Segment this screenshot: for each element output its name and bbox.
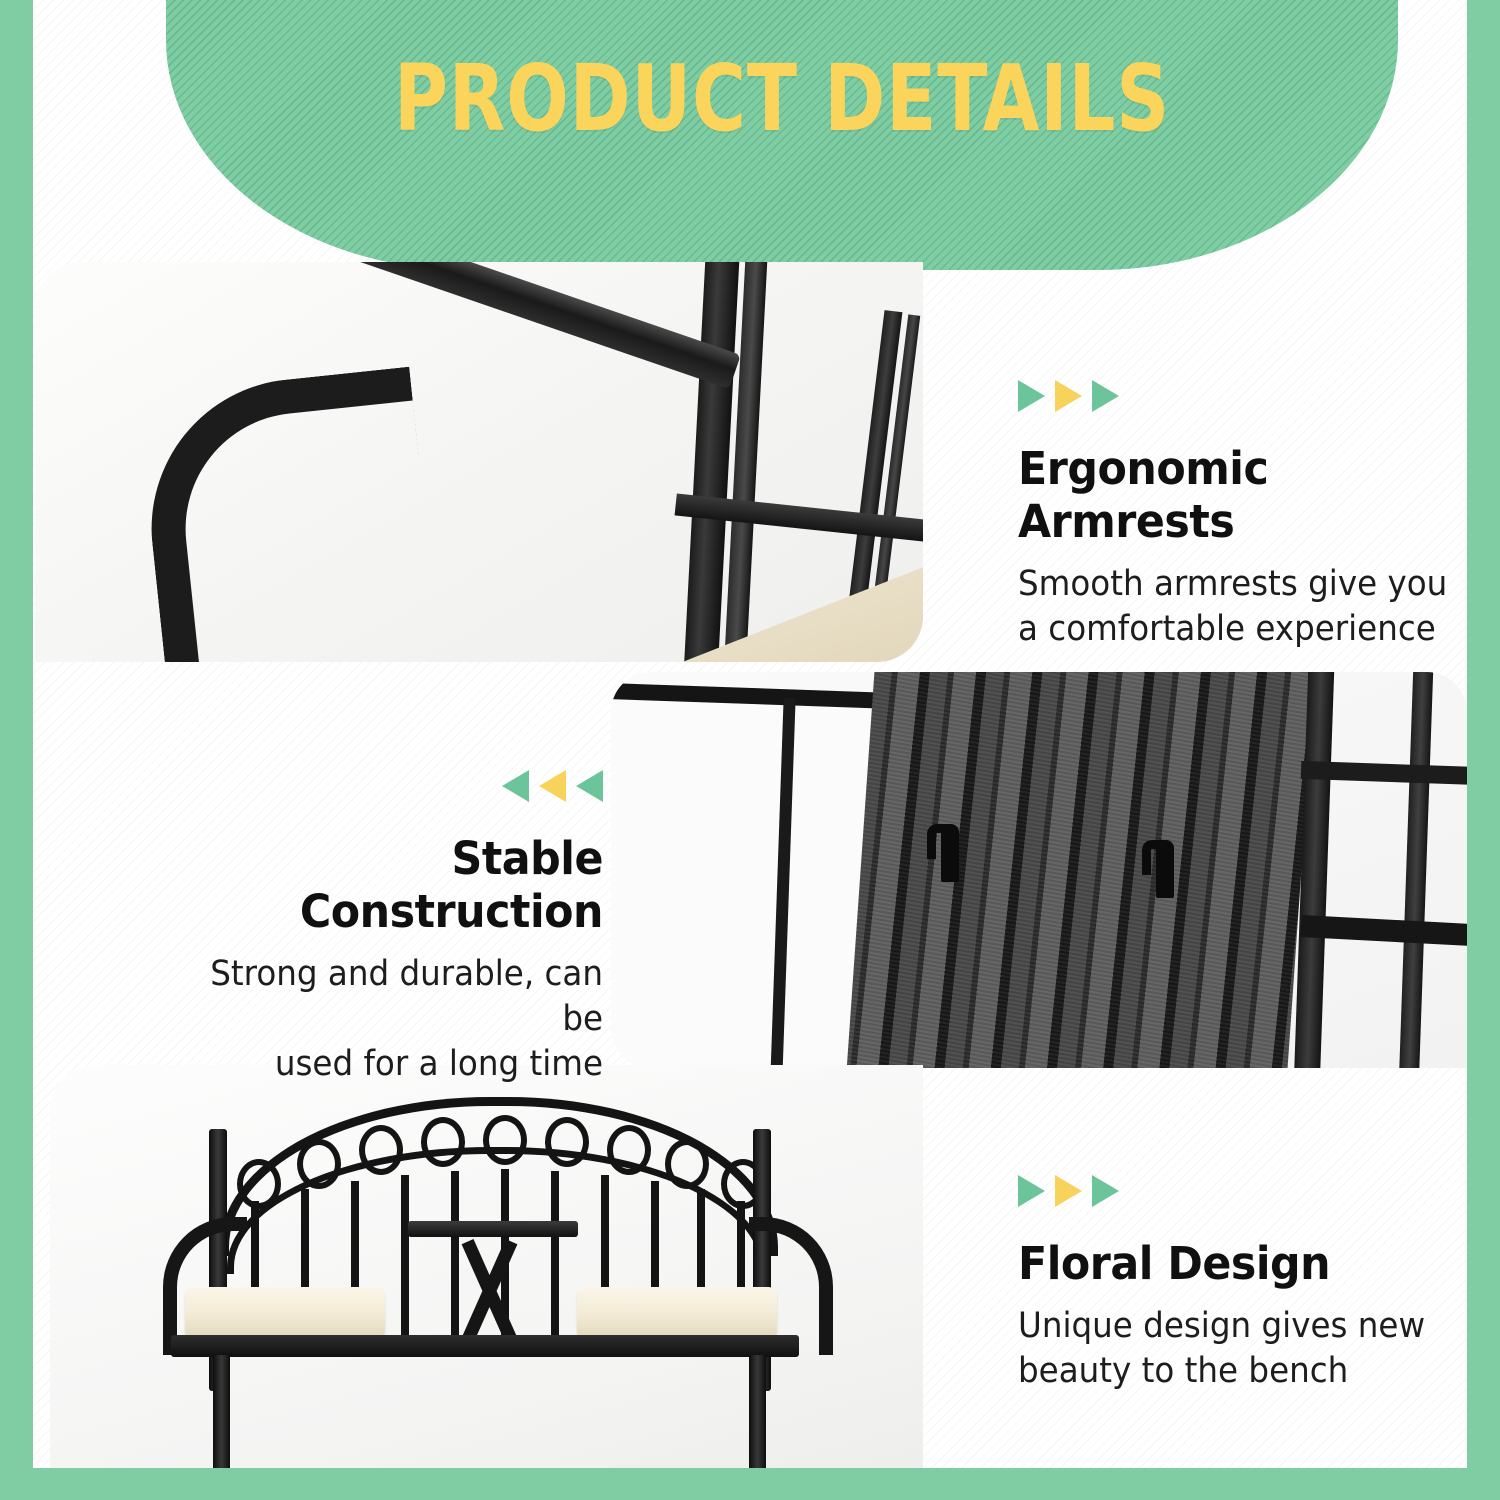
bench-ring-ornament: [297, 1139, 341, 1189]
frame-hook-left: [941, 824, 959, 882]
product-details-poster: PRODUCT DETAILS: [0, 0, 1500, 1500]
bench-ring-ornament: [665, 1139, 709, 1189]
triangle-left-icon: [539, 770, 566, 802]
bench-cushion-right: [577, 1287, 777, 1339]
armrest-curve: [137, 367, 448, 662]
triangle-right-icon: [1092, 1175, 1119, 1207]
arrow-group: [1018, 1175, 1467, 1207]
arrow-group: [133, 770, 603, 802]
feature-floral-design: Floral Design Unique design gives new be…: [1018, 1175, 1467, 1394]
bench-ring-ornament: [607, 1125, 651, 1175]
bench-fold-table-top: [408, 1221, 578, 1237]
bench-baluster: [451, 1171, 459, 1341]
triangle-right-icon: [1018, 1175, 1045, 1207]
triangle-right-icon: [1092, 380, 1119, 412]
feature-heading: Floral Design: [1018, 1237, 1465, 1290]
photo-armrest-closeup: [35, 262, 923, 662]
armrest-seat-cushion: [405, 534, 923, 662]
bench-leg-right: [749, 1355, 766, 1468]
frame-right-rail-secondary: [1399, 672, 1434, 1068]
triangle-right-icon: [1018, 380, 1045, 412]
photo-frame-slats: [611, 672, 1467, 1068]
bench-ring-ornament: [483, 1115, 527, 1165]
feature-heading: Stable Construction: [157, 832, 604, 938]
bench-ring-ornament: [237, 1159, 281, 1209]
frame-slats-texture: [846, 672, 1315, 1068]
triangle-right-icon: [1055, 380, 1082, 412]
bench-ring-ornament: [359, 1125, 403, 1175]
triangle-left-icon: [502, 770, 529, 802]
header-banner: PRODUCT DETAILS: [166, 0, 1398, 270]
poster-canvas: PRODUCT DETAILS: [33, 0, 1467, 1468]
bench-ring-ornament: [421, 1117, 465, 1167]
feature-stable-construction: Stable Construction Strong and durable, …: [133, 770, 603, 1086]
bench-baluster: [551, 1171, 559, 1341]
bench-illustration: [165, 1089, 815, 1468]
feature-body-line-2: beauty to the bench: [1018, 1349, 1455, 1394]
feature-heading: Ergonomic Armrests: [1018, 442, 1465, 548]
arrow-group: [1018, 380, 1467, 412]
bench-cushion-left: [185, 1287, 385, 1339]
frame-right-crossbar-bottom: [1301, 915, 1467, 947]
feature-body-line-1: Smooth armrests give you: [1018, 562, 1455, 607]
bench-baluster: [401, 1175, 409, 1341]
frame-hook-right: [1156, 840, 1174, 898]
bench-seat-rail: [171, 1335, 799, 1357]
bench-leg-left: [213, 1355, 230, 1468]
page-title: PRODUCT DETAILS: [394, 45, 1170, 152]
feature-body-line-2: used for a long time: [166, 1042, 603, 1087]
feature-body-line-1: Unique design gives new: [1018, 1304, 1455, 1349]
photo-bench-full: [50, 1065, 923, 1468]
feature-body-line-1: Strong and durable, can be: [166, 952, 603, 1042]
feature-body-line-2: a comfortable experience: [1018, 607, 1455, 652]
triangle-right-icon: [1055, 1175, 1082, 1207]
bench-ring-ornament: [545, 1117, 589, 1167]
feature-ergonomic-armrests: Ergonomic Armrests Smooth armrests give …: [1018, 380, 1467, 652]
triangle-left-icon: [576, 770, 603, 802]
